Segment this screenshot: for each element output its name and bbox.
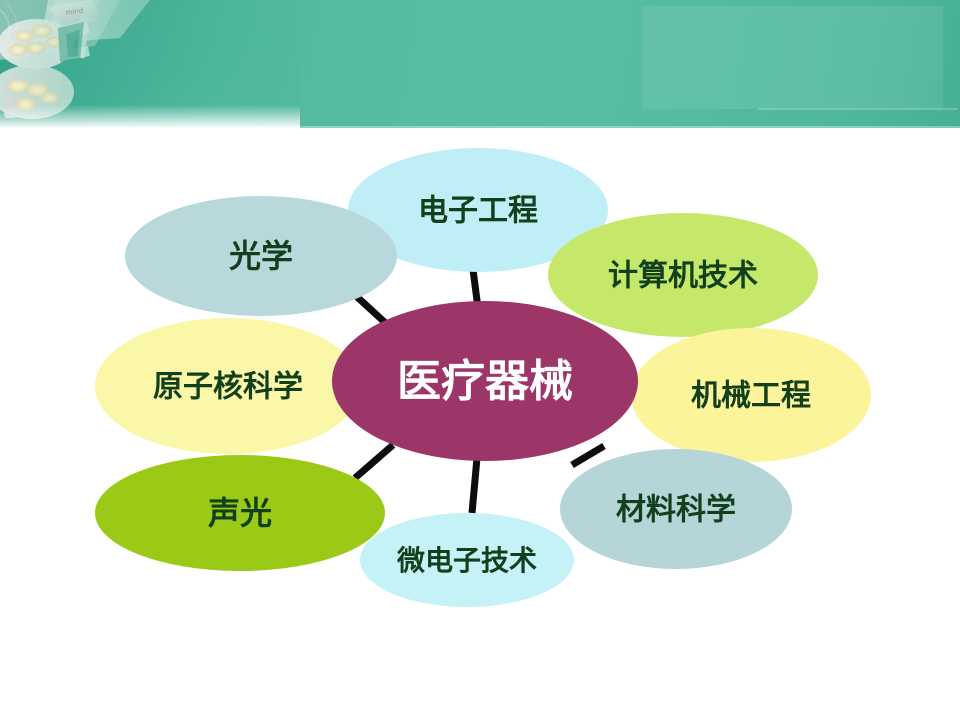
surgical-light-photo: mind (0, 0, 300, 128)
center-node-label: 医疗器械 (397, 356, 573, 407)
node-e69cbae6a2b0e5b7a5e7a88b[interactable]: 机械工程 (631, 328, 871, 462)
banner-highlight-panel (643, 6, 943, 109)
node-e5beaee794b5e5ad90e68a80e69caf[interactable]: 微电子技术 (360, 513, 574, 607)
node-label: 原子核科学 (153, 370, 303, 405)
node-e69d90e69699e7a791e5ada6[interactable]: 材料科学 (560, 449, 792, 569)
banner-highlight-underline (758, 108, 958, 110)
node-e58e9fe5ad90e6a0b8e7a791e5ada6[interactable]: 原子核科学 (95, 318, 361, 454)
diagram-svg: 电子工程光学计算机技术原子核科学机械工程声光材料科学微电子技术 医疗器械 (0, 128, 960, 720)
connector-line (355, 445, 393, 478)
node-e58589e5ada6[interactable]: 光学 (125, 196, 397, 316)
node-label: 声光 (208, 494, 272, 532)
header-banner: mind (0, 0, 960, 128)
center-node-medical-devices[interactable]: 医疗器械 (332, 301, 638, 461)
hub-and-spoke-diagram: 电子工程光学计算机技术原子核科学机械工程声光材料科学微电子技术 医疗器械 (0, 128, 960, 720)
node-label: 光学 (229, 237, 293, 275)
node-e5a3b0e58589[interactable]: 声光 (95, 455, 385, 571)
node-label: 材料科学 (616, 493, 736, 528)
node-label: 计算机技术 (608, 259, 758, 294)
connector-line (472, 458, 477, 513)
center-node-layer: 医疗器械 (332, 301, 638, 461)
slide-canvas: mind (0, 0, 960, 720)
node-label: 电子工程 (418, 194, 538, 229)
node-label: 机械工程 (691, 379, 811, 414)
connector-line (572, 446, 604, 465)
node-e8aea1e7ae97e69cbae68a80e69caf[interactable]: 计算机技术 (548, 213, 818, 337)
node-label: 微电子技术 (396, 544, 537, 577)
